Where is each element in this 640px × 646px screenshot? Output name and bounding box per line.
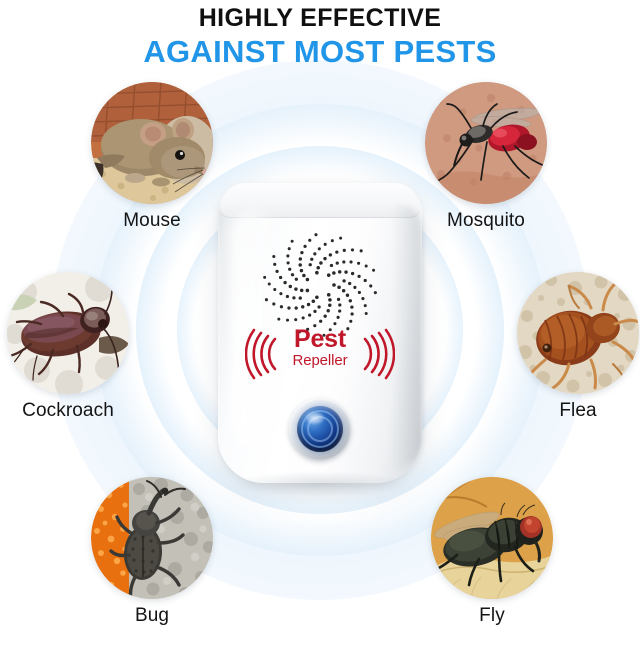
device-right-shading	[392, 203, 422, 469]
device-drop-shadow	[231, 471, 409, 497]
pest-item-flea: Flea	[512, 272, 640, 422]
pest-repeller-device: Pest Repeller	[218, 183, 422, 483]
pest-label-flea: Flea	[512, 400, 640, 422]
pest-item-mosquito: Mosquito	[420, 82, 552, 232]
mosquito-photo	[425, 82, 547, 204]
cockroach-photo	[7, 272, 129, 394]
flea-photo	[517, 272, 639, 394]
sound-wave-arcs	[245, 323, 395, 385]
pest-item-bug: Bug	[86, 477, 218, 627]
pest-item-fly: Fly	[426, 477, 558, 627]
pest-label-mouse: Mouse	[86, 210, 218, 232]
pest-label-mosquito: Mosquito	[420, 210, 552, 232]
device-logo: Pest Repeller	[245, 323, 395, 385]
pest-item-mouse: Mouse	[86, 82, 218, 232]
mouse-photo	[91, 82, 213, 204]
headline-line-1: HIGHLY EFFECTIVE	[0, 5, 640, 31]
pest-label-cockroach: Cockroach	[2, 400, 134, 422]
led-power-button[interactable]	[289, 398, 351, 460]
pest-item-cockroach: Cockroach	[2, 272, 134, 422]
fly-photo	[431, 477, 553, 599]
bug-photo	[91, 477, 213, 599]
pest-label-fly: Fly	[426, 605, 558, 627]
led-specular-highlight	[306, 412, 324, 424]
pest-label-bug: Bug	[86, 605, 218, 627]
led-lens	[297, 406, 343, 452]
product-infographic: HIGHLY EFFECTIVE AGAINST MOST PESTS	[0, 0, 640, 646]
